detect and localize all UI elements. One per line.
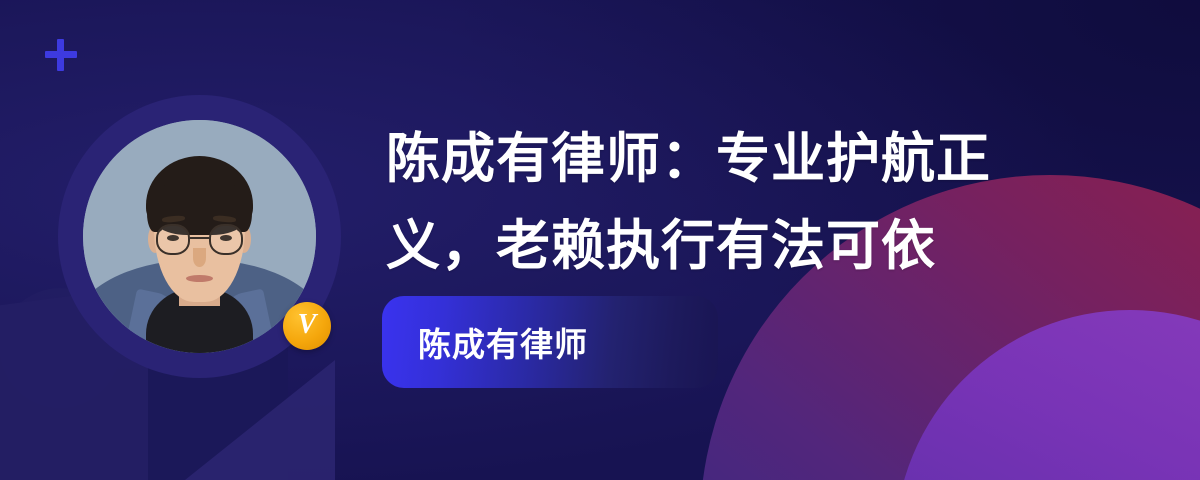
portrait-glasses-lens-left (156, 224, 190, 255)
portrait-hair-side-right (233, 185, 252, 232)
promo-banner: V 陈成有律师：专业护航正 义，老赖执行有法可依 陈成有律师 (0, 0, 1200, 480)
portrait-glasses-bridge (190, 237, 209, 239)
page-title: 陈成有律师：专业护航正 义，老赖执行有法可依 (386, 116, 1176, 290)
portrait-nose (193, 248, 205, 267)
verified-badge-label: V (298, 311, 317, 339)
avatar: V (58, 95, 341, 378)
lawyer-name-button[interactable]: 陈成有律师 (382, 296, 718, 388)
plus-icon (42, 36, 80, 74)
verified-badge-icon: V (283, 302, 331, 350)
portrait-glasses-lens-right (209, 224, 243, 255)
banner-content: 陈成有律师：专业护航正 义，老赖执行有法可依 (386, 116, 1176, 290)
plus-icon-bar-vertical (57, 39, 64, 71)
avatar-photo (83, 120, 316, 353)
